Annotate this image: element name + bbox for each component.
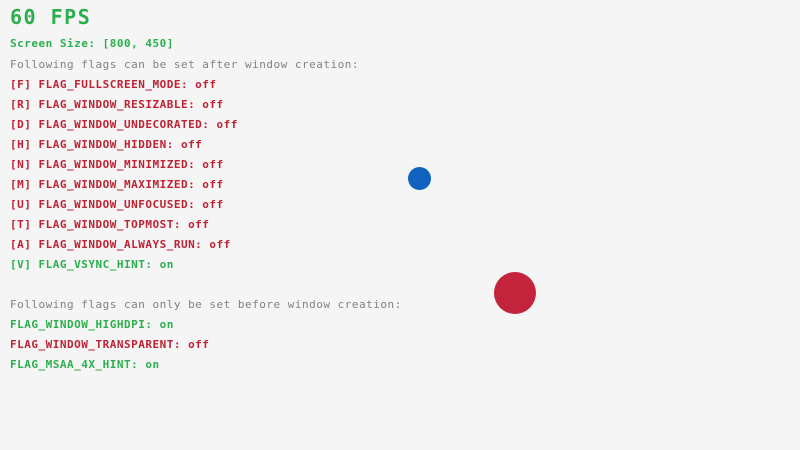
flag-row-window-undecorated[interactable]: [D] FLAG_WINDOW_UNDECORATED: off xyxy=(10,119,238,130)
flag-row-window-minimized[interactable]: [N] FLAG_WINDOW_MINIMIZED: off xyxy=(10,159,224,170)
blue-ball-shape xyxy=(408,167,431,190)
flag-row-window-always-run[interactable]: [A] FLAG_WINDOW_ALWAYS_RUN: off xyxy=(10,239,231,250)
flag-row-window-hidden[interactable]: [H] FLAG_WINDOW_HIDDEN: off xyxy=(10,139,202,150)
before-creation-note: Following flags can only be set before w… xyxy=(10,299,402,310)
flag-row-window-unfocused[interactable]: [U] FLAG_WINDOW_UNFOCUSED: off xyxy=(10,199,224,210)
flag-row-window-topmost[interactable]: [T] FLAG_WINDOW_TOPMOST: off xyxy=(10,219,209,230)
flag-row-window-transparent: FLAG_WINDOW_TRANSPARENT: off xyxy=(10,339,209,350)
flag-row-vsync-hint[interactable]: [V] FLAG_VSYNC_HINT: on xyxy=(10,259,174,270)
flag-row-fullscreen-mode[interactable]: [F] FLAG_FULLSCREEN_MODE: off xyxy=(10,79,217,90)
flag-row-msaa-4x-hint: FLAG_MSAA_4X_HINT: on xyxy=(10,359,160,370)
after-creation-note: Following flags can be set after window … xyxy=(10,59,359,70)
raylib-window-canvas: 60 FPS Screen Size: [800, 450] Following… xyxy=(0,0,800,450)
fps-counter: 60 FPS xyxy=(10,7,91,27)
flag-row-window-maximized[interactable]: [M] FLAG_WINDOW_MAXIMIZED: off xyxy=(10,179,224,190)
flag-row-window-resizable[interactable]: [R] FLAG_WINDOW_RESIZABLE: off xyxy=(10,99,224,110)
screen-size-label: Screen Size: [800, 450] xyxy=(10,38,174,49)
flag-row-window-highdpi: FLAG_WINDOW_HIGHDPI: on xyxy=(10,319,174,330)
red-ball-shape xyxy=(494,272,536,314)
